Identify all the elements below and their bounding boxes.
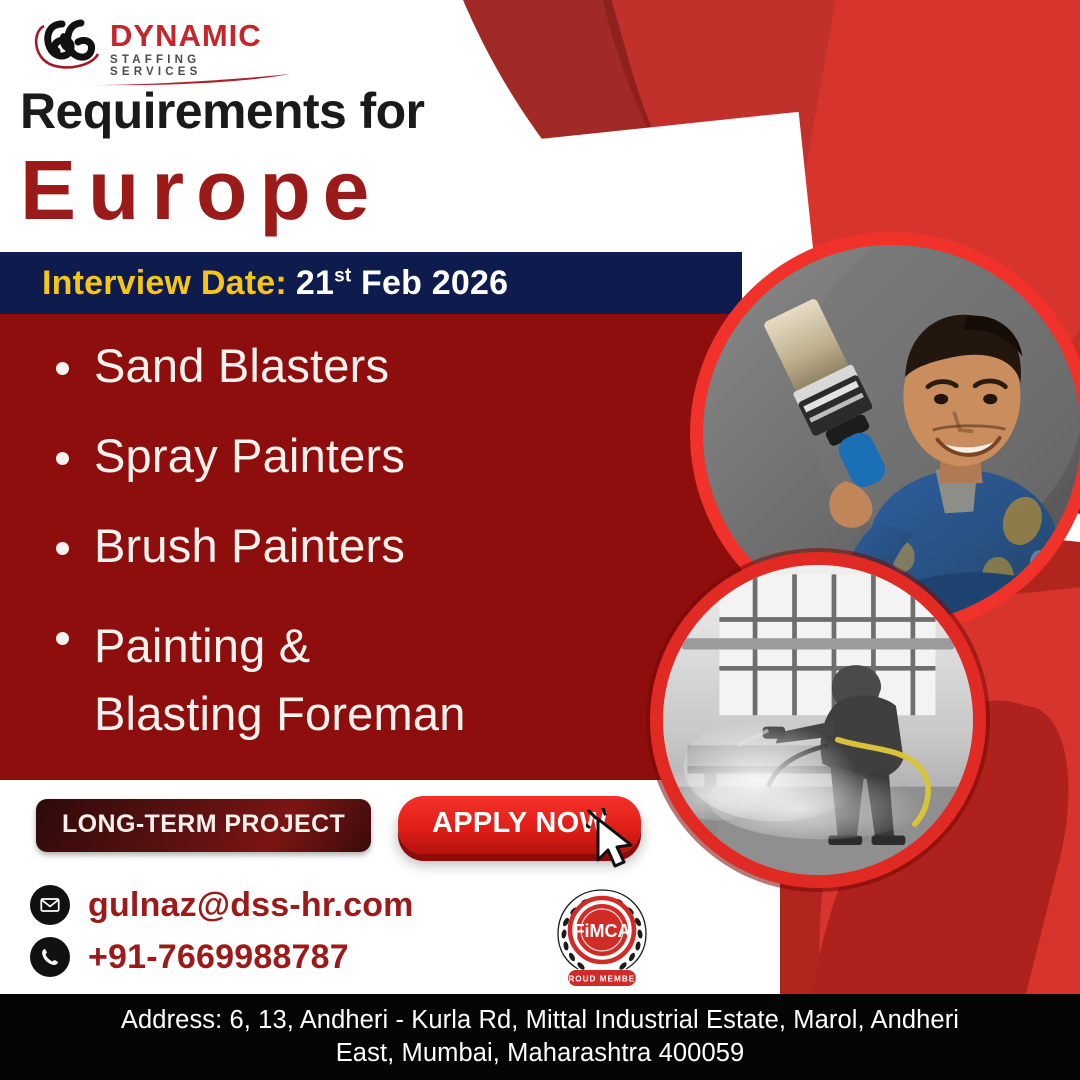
- page-title-line1: Requirements for: [20, 82, 424, 140]
- contact-email-value: gulnaz@dss-hr.com: [88, 886, 414, 925]
- envelope-icon: [30, 885, 70, 925]
- contact-phone-value: +91-7669988787: [88, 938, 349, 977]
- interview-day: 21: [296, 264, 334, 302]
- company-logo: DYNAMIC STAFFING SERVICES: [32, 16, 292, 84]
- list-item: Sand Blasters: [44, 342, 742, 389]
- phone-icon: [30, 937, 70, 977]
- recruitment-poster: DYNAMIC STAFFING SERVICES Requirements f…: [0, 0, 1080, 1080]
- job-roles-list: Sand Blasters Spray Painters Brush Paint…: [44, 342, 742, 748]
- fimca-proud-member-badge: FiMCA PROUD MEMBER: [552, 884, 652, 989]
- address-line-1: Address: 6, 13, Andheri - Kurla Rd, Mitt…: [121, 1004, 959, 1037]
- logo-wordmark: DYNAMIC STAFFING SERVICES: [110, 20, 292, 79]
- interview-date-value: 21st Feb 2026: [296, 264, 508, 303]
- address-line-2: East, Mumbai, Maharashtra 400059: [336, 1037, 745, 1070]
- contact-phone-row[interactable]: +91-7669988787: [30, 937, 414, 977]
- sandblasting-worker-photo: [650, 552, 986, 888]
- fimca-badge-text: FiMCA: [574, 921, 631, 941]
- interview-month-year: Feb 2026: [351, 264, 508, 302]
- sandblasting-photo-illustration: [663, 565, 973, 875]
- list-item: Painting & Blasting Foreman: [44, 612, 742, 748]
- interview-date-label: Interview Date:: [42, 264, 287, 303]
- fimca-ribbon-text: PROUD MEMBER: [562, 975, 642, 984]
- page-title-destination: Europe: [20, 143, 381, 237]
- mouse-cursor-click-icon: [586, 808, 640, 870]
- contact-email-row[interactable]: gulnaz@dss-hr.com: [30, 885, 414, 925]
- contact-block: gulnaz@dss-hr.com +91-7669988787: [30, 885, 414, 989]
- job-roles-panel: Sand Blasters Spray Painters Brush Paint…: [0, 314, 742, 780]
- interview-date-band: Interview Date: 21st Feb 2026: [0, 252, 742, 314]
- address-footer: Address: 6, 13, Andheri - Kurla Rd, Mitt…: [0, 994, 1080, 1080]
- list-item: Spray Painters: [44, 432, 742, 479]
- dss-monogram-icon: [32, 18, 108, 74]
- list-item: Brush Painters: [44, 522, 742, 569]
- long-term-project-badge: LONG-TERM PROJECT: [36, 799, 371, 852]
- interview-ordinal: st: [334, 265, 351, 286]
- logo-company-name: DYNAMIC: [110, 20, 292, 53]
